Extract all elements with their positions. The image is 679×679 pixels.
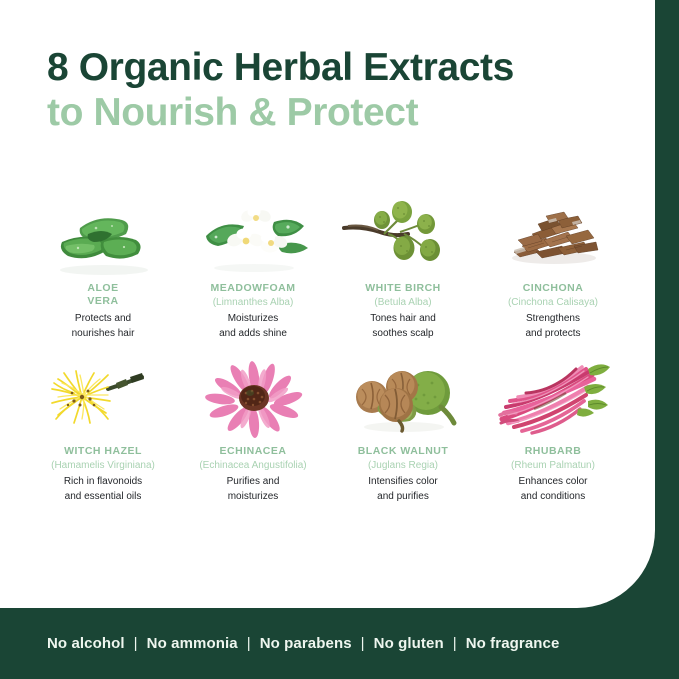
herb-card-aloe-vera: ALOE VERA Protects and nourishes hair (28, 190, 178, 341)
herb-name: BLACK WALNUT (358, 445, 449, 458)
herb-latin-name: (Echinacea Angustifolia) (199, 459, 306, 472)
claim-no-fragrance: No fragrance (466, 635, 560, 652)
herb-description: Strengthens and protects (525, 312, 580, 341)
herb-name: WHITE BIRCH (365, 282, 441, 295)
herb-description: Tones hair and soothes scalp (370, 312, 436, 341)
herb-description: Protects and nourishes hair (72, 312, 135, 341)
herb-card-meadowfoam: MEADOWFOAM (Limnanthes Alba) Moisturizes… (178, 190, 328, 341)
herb-name: CINCHONA (523, 282, 584, 295)
herb-card-cinchona: CINCHONA (Cinchona Calisaya) Strengthens… (478, 190, 628, 341)
cinchona-bark-icon (488, 190, 618, 278)
herb-description: Enhances color and conditions (519, 475, 588, 504)
herb-name: WITCH HAZEL (64, 445, 142, 458)
witch-hazel-flower-icon (38, 353, 168, 441)
herb-card-rhubarb: RHUBARB (Rheum Palmatun) Enhances color … (478, 353, 628, 504)
claim-no-alcohol: No alcohol (47, 635, 125, 652)
rhubarb-stalks-icon (488, 353, 618, 441)
claim-no-ammonia: No ammonia (147, 635, 238, 652)
claim-separator: | (238, 635, 260, 652)
claim-separator: | (125, 635, 147, 652)
herb-name: RHUBARB (525, 445, 582, 458)
meadowfoam-flower-icon (188, 190, 318, 278)
claim-separator: | (352, 635, 374, 652)
aloe-vera-icon (38, 190, 168, 278)
herb-latin-name: (Hamamelis Virginiana) (51, 459, 155, 472)
herb-latin-name: (Limnanthes Alba) (213, 296, 294, 309)
title-primary: 8 Organic Herbal Extracts (47, 46, 637, 90)
herb-card-witch-hazel: WITCH HAZEL (Hamamelis Virginiana) Rich … (28, 353, 178, 504)
herb-description: Rich in flavonoids and essential oils (64, 475, 142, 504)
herb-name: MEADOWFOAM (211, 282, 296, 295)
herbal-extracts-infographic: 8 Organic Herbal Extracts to Nourish & P… (0, 0, 679, 679)
herb-latin-name: (Juglans Regia) (368, 459, 438, 472)
claim-no-parabens: No parabens (260, 635, 352, 652)
white-birch-branch-icon (338, 190, 468, 278)
page-title: 8 Organic Herbal Extracts to Nourish & P… (47, 46, 637, 136)
herb-description: Purifies and moisturizes (227, 475, 280, 504)
title-secondary: to Nourish & Protect (47, 90, 637, 136)
black-walnut-icon (338, 353, 468, 441)
herb-card-echinacea: ECHINACEA (Echinacea Angustifolia) Purif… (178, 353, 328, 504)
herb-name: ALOE VERA (87, 282, 118, 308)
echinacea-flower-icon (188, 353, 318, 441)
herb-description: Intensifies color and purifies (368, 475, 437, 504)
herb-row: ALOE VERA Protects and nourishes hair (28, 190, 628, 341)
herb-row: WITCH HAZEL (Hamamelis Virginiana) Rich … (28, 353, 628, 504)
claim-no-gluten: No gluten (374, 635, 444, 652)
herb-card-black-walnut: BLACK WALNUT (Juglans Regia) Intensifies… (328, 353, 478, 504)
herb-latin-name: (Rheum Palmatun) (511, 459, 595, 472)
claim-separator: | (444, 635, 466, 652)
claims-list: No alcohol | No ammonia | No parabens | … (47, 635, 559, 652)
herb-description: Moisturizes and adds shine (219, 312, 287, 341)
herb-card-white-birch: WHITE BIRCH (Betula Alba) Tones hair and… (328, 190, 478, 341)
claims-band: No alcohol | No ammonia | No parabens | … (0, 608, 679, 679)
herb-latin-name: (Cinchona Calisaya) (508, 296, 598, 309)
herb-name: ECHINACEA (220, 445, 287, 458)
herb-grid: ALOE VERA Protects and nourishes hair (28, 190, 628, 504)
herb-latin-name: (Betula Alba) (374, 296, 431, 309)
